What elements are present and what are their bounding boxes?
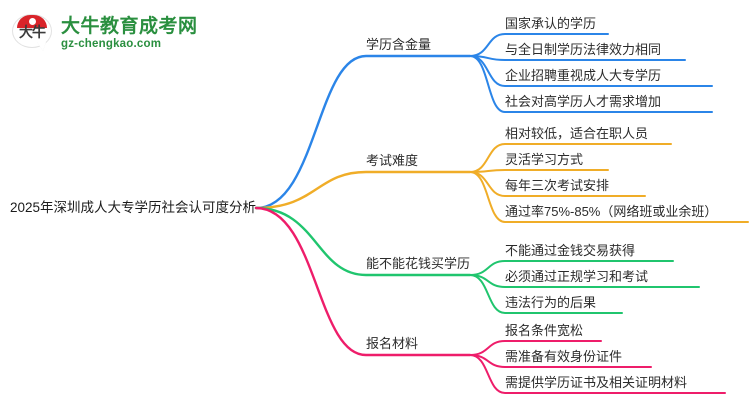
mindmap-branch-label-1[interactable]: 学历含金量 (366, 38, 431, 51)
mindmap-leaf-4-1[interactable]: 报名条件宽松 (505, 324, 583, 337)
mindmap-leaf-2-1[interactable]: 相对较低，适合在职人员 (505, 127, 648, 140)
mindmap-leaf-1-1[interactable]: 国家承认的学历 (505, 17, 596, 30)
mindmap-leaf-2-3[interactable]: 每年三次考试安排 (505, 179, 609, 192)
mindmap-root-label[interactable]: 2025年深圳成人大专学历社会认可度分析 (10, 201, 256, 215)
mindmap-nodes: 2025年深圳成人大专学历社会认可度分析 学历含金量国家承认的学历与全日制学历法… (0, 0, 750, 410)
mindmap-leaf-2-2[interactable]: 灵活学习方式 (505, 153, 583, 166)
mindmap-leaf-3-3[interactable]: 违法行为的后果 (505, 296, 596, 309)
mindmap-leaf-1-2[interactable]: 与全日制学历法律效力相同 (505, 43, 661, 56)
mindmap-leaf-4-3[interactable]: 需提供学历证书及相关证明材料 (505, 376, 687, 389)
mindmap-leaf-1-4[interactable]: 社会对高学历人才需求增加 (505, 95, 661, 108)
mindmap-branch-label-4[interactable]: 报名材料 (366, 337, 418, 350)
mindmap-leaf-3-2[interactable]: 必须通过正规学习和考试 (505, 270, 648, 283)
mindmap-branch-label-2[interactable]: 考试难度 (366, 154, 418, 167)
mindmap-leaf-2-4[interactable]: 通过率75%-85%（网络班或业余班） (505, 205, 717, 218)
mindmap-branch-label-3[interactable]: 能不能花钱买学历 (366, 257, 470, 270)
mindmap-leaf-3-1[interactable]: 不能通过金钱交易获得 (505, 244, 635, 257)
mindmap-leaf-4-2[interactable]: 需准备有效身份证件 (505, 350, 622, 363)
mindmap-leaf-1-3[interactable]: 企业招聘重视成人大专学历 (505, 69, 661, 82)
